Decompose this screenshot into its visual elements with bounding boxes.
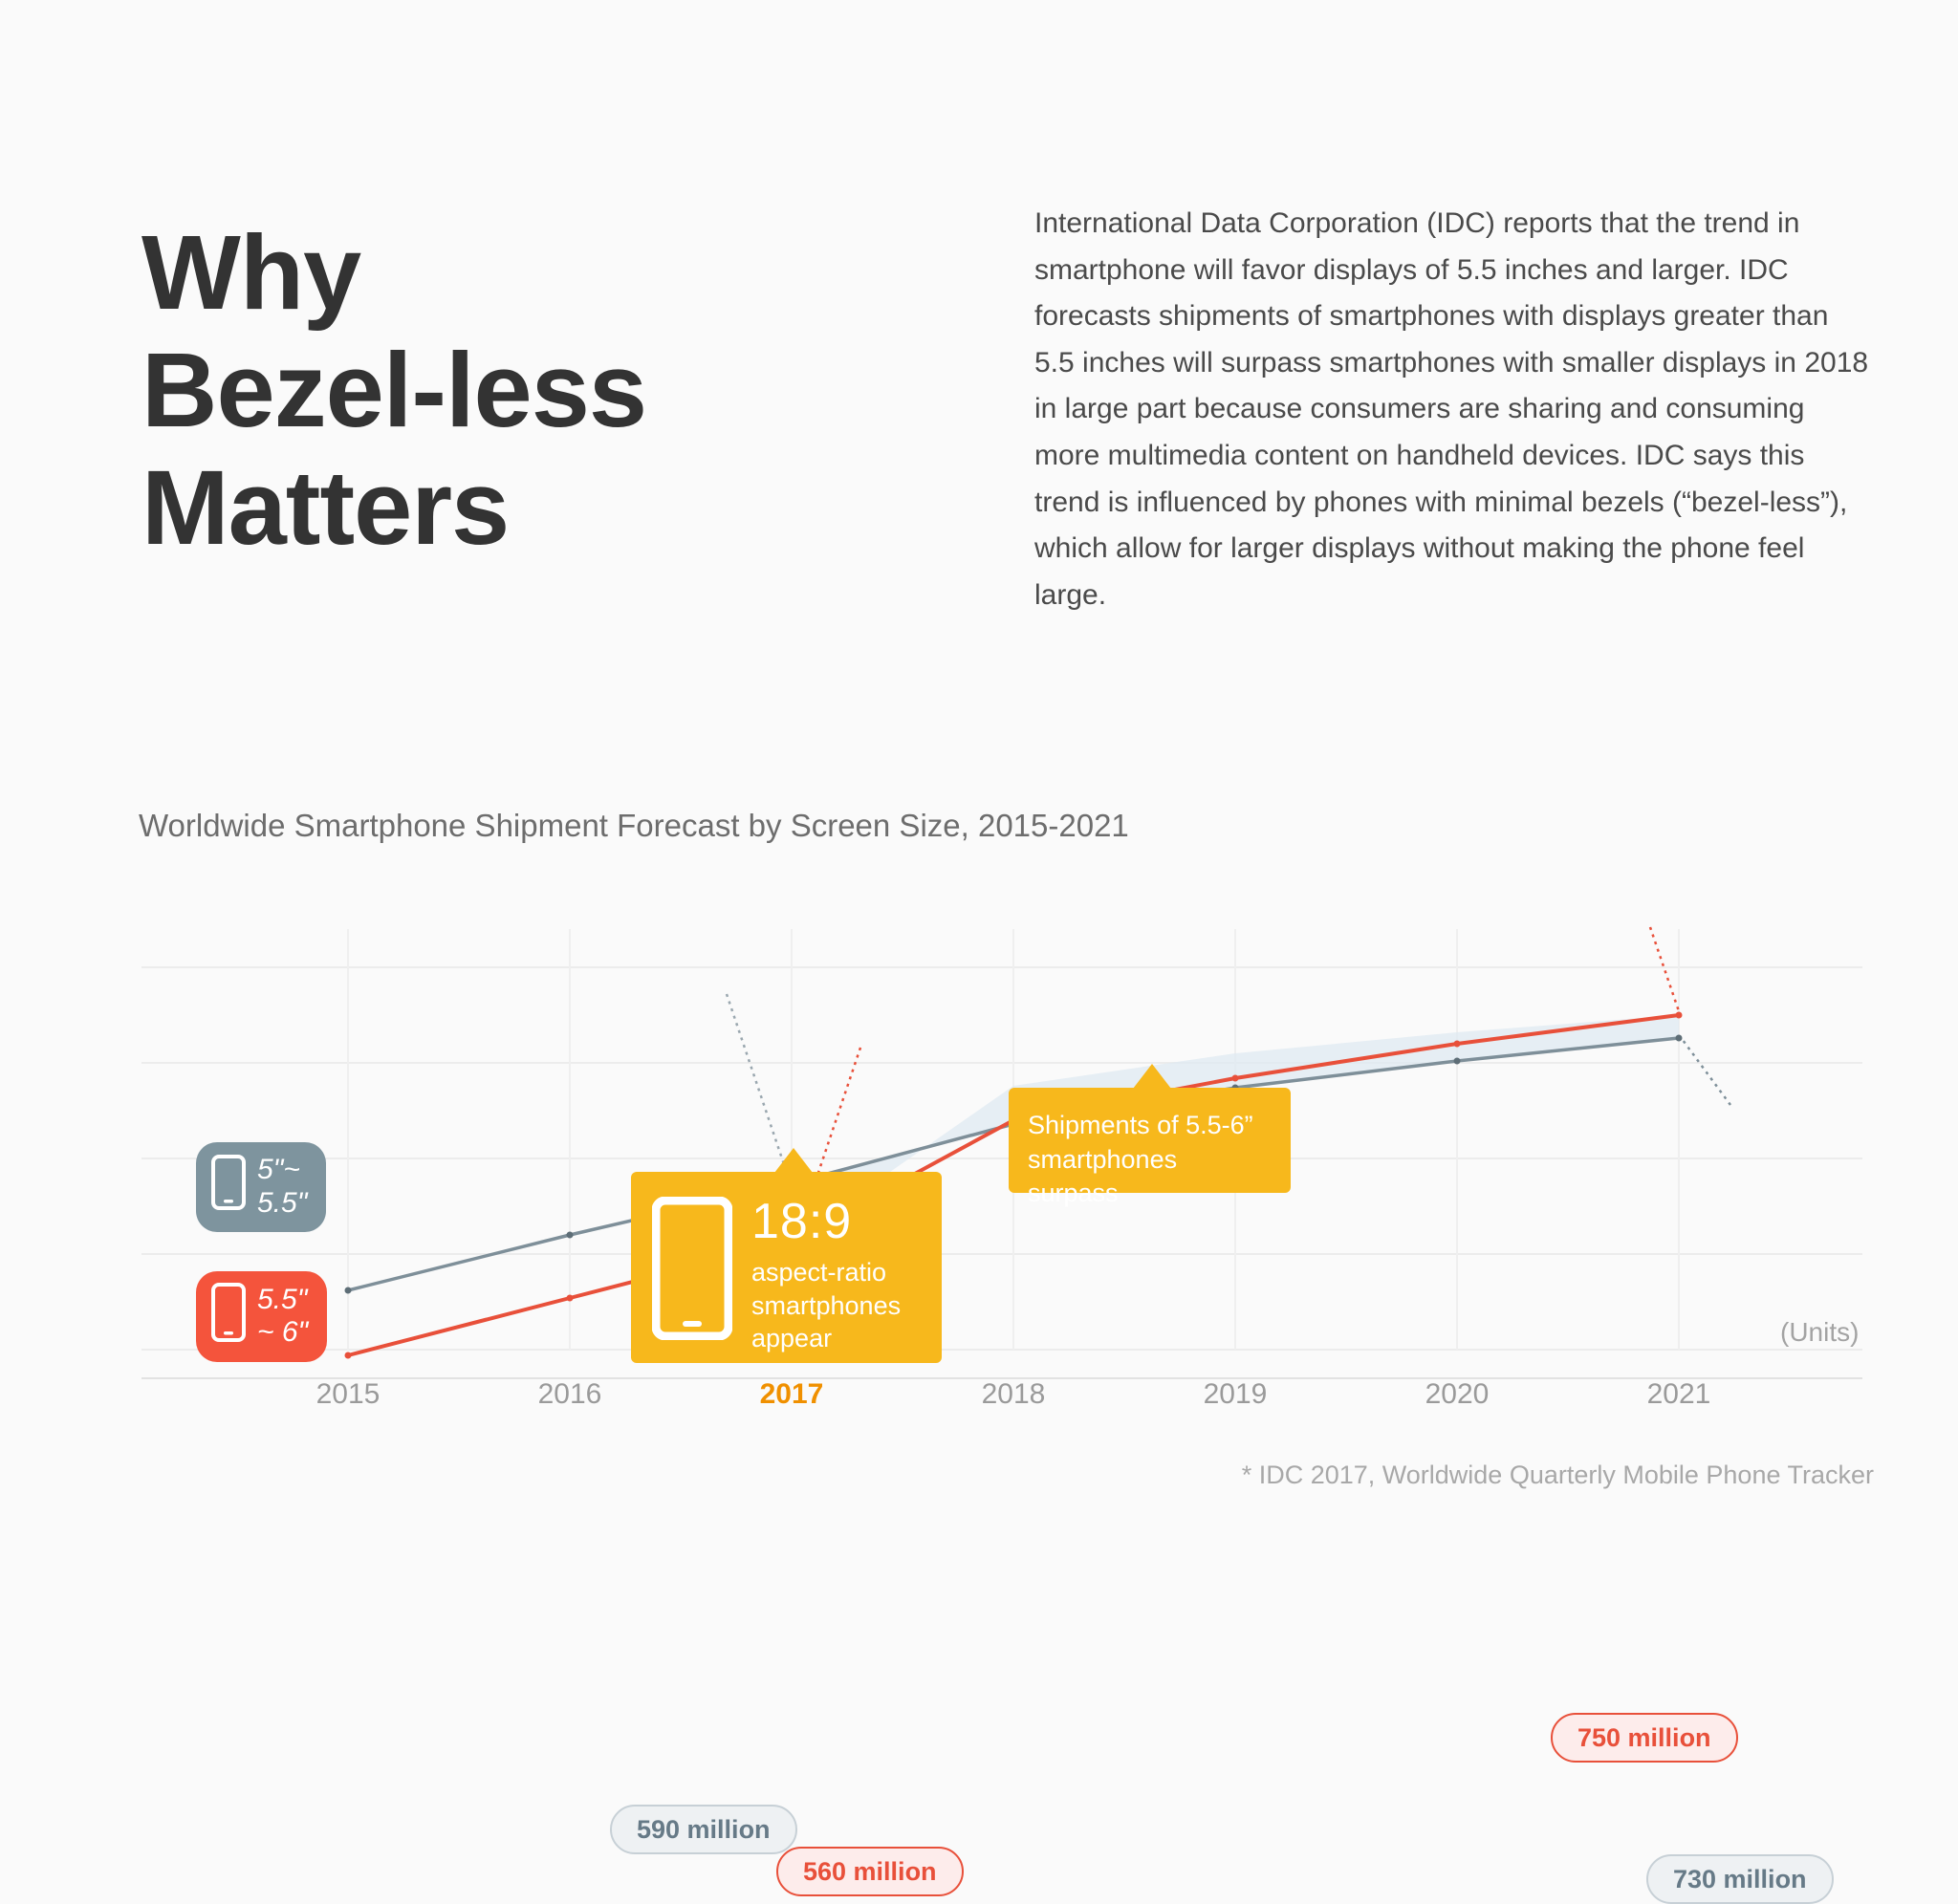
x-label-2021: 2021 [1647,1378,1711,1411]
x-label-2020: 2020 [1425,1378,1490,1411]
callout-pointer [774,1148,813,1173]
x-label-2018: 2018 [982,1378,1046,1411]
legend-item-large-screens: 5.5" ~ 6" [196,1271,327,1362]
value-pill-large-2017: 560 million [776,1847,964,1896]
x-label-2019: 2019 [1204,1378,1268,1411]
callout-pointer [1133,1064,1171,1089]
legend-item-small-screens: 5"~ 5.5" [196,1142,326,1232]
source-footnote: * IDC 2017, Worldwide Quarterly Mobile P… [1242,1460,1874,1490]
aspect-ratio-text-group: 18:9 aspect-ratio smartphones appear [751,1197,901,1355]
aspect-ratio-callout: 18:9 aspect-ratio smartphones appear [631,1172,942,1363]
surpass-callout: Shipments of 5.5-6” smartphones surpass [1009,1088,1291,1193]
page-title: Why Bezel-less Matters [141,214,646,568]
x-label-2016: 2016 [538,1378,602,1411]
phone-icon [211,1283,246,1351]
phone-icon [211,1155,246,1219]
value-pill-small-2017: 590 million [610,1805,797,1854]
x-label-2015: 2015 [316,1378,381,1411]
legend-label-large-screens: 5.5" ~ 6" [257,1284,308,1351]
value-pill-large-2021: 750 million [1551,1713,1738,1763]
phone-icon [652,1197,732,1345]
intro-paragraph: International Data Corporation (IDC) rep… [1034,201,1876,618]
x-label-2017: 2017 [760,1378,824,1411]
value-pill-small-2021: 730 million [1646,1854,1834,1904]
aspect-ratio-description: aspect-ratio smartphones appear [751,1256,901,1355]
aspect-ratio-value: 18:9 [751,1194,852,1249]
infographic-page: Why Bezel-less Matters International Dat… [0,0,1958,1603]
legend-label-small-screens: 5"~ 5.5" [257,1154,307,1221]
units-label: (Units) [1780,1317,1859,1348]
chart-title: Worldwide Smartphone Shipment Forecast b… [139,808,1129,844]
x-axis-labels: 2015 2016 2017 2018 2019 2020 2021 [0,1378,1958,1426]
